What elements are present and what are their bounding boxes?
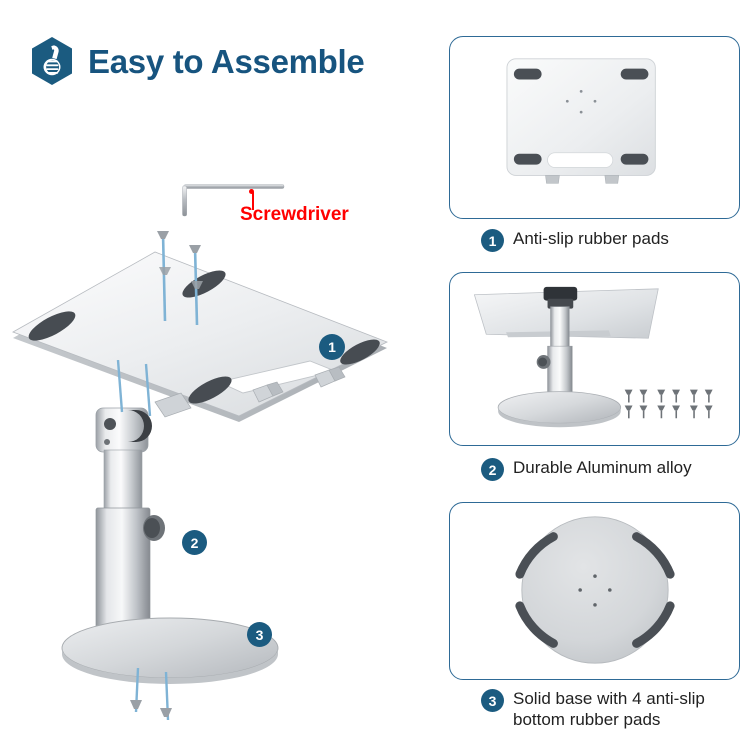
caption-badge-2: 2 bbox=[481, 458, 504, 481]
caption-text-3: Solid base with 4 anti-slip bottom rubbe… bbox=[513, 688, 736, 730]
callout-badge-3: 3 bbox=[247, 622, 272, 647]
screwdriver-label: Screwdriver bbox=[240, 204, 349, 226]
header: Easy to Assemble bbox=[30, 36, 364, 86]
assembly-screws-top bbox=[143, 225, 223, 330]
round-base-bottom-view-art bbox=[450, 503, 739, 679]
top-plate-top-view-art bbox=[450, 37, 739, 218]
caption-badge-1: 1 bbox=[481, 229, 504, 252]
feature-caption-3: 3 Solid base with 4 anti-slip bottom rub… bbox=[481, 688, 736, 730]
feature-caption-2: 2 Durable Aluminum alloy bbox=[481, 457, 692, 481]
assembly-rods bbox=[100, 360, 170, 420]
wrench-in-hand-hexagon-icon bbox=[30, 36, 74, 86]
assembled-stand-art bbox=[450, 273, 739, 445]
caption-badge-3: 3 bbox=[481, 689, 504, 712]
feature-panel-3 bbox=[449, 502, 740, 680]
column-and-base-part bbox=[60, 400, 330, 730]
feature-caption-1: 1 Anti-slip rubber pads bbox=[481, 228, 669, 252]
callout-badge-2: 2 bbox=[182, 530, 207, 555]
caption-text-1: Anti-slip rubber pads bbox=[513, 228, 669, 249]
feature-panel-2 bbox=[449, 272, 740, 446]
callout-badge-1: 1 bbox=[319, 334, 345, 360]
caption-text-2: Durable Aluminum alloy bbox=[513, 457, 692, 478]
exploded-assembly-illustration: Screwdriver bbox=[0, 170, 430, 750]
page-title: Easy to Assemble bbox=[88, 45, 364, 78]
feature-panel-1 bbox=[449, 36, 740, 219]
